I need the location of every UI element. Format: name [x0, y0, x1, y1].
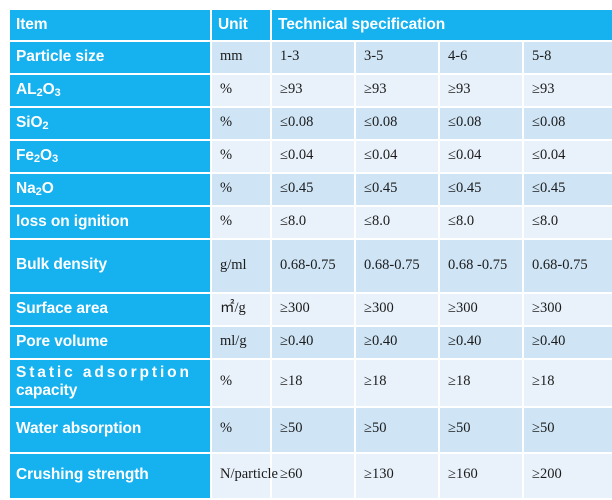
cell-value: ≥50 [440, 408, 522, 452]
row-unit-surface-area: ㎡/g [212, 294, 270, 325]
cell-value: ≥300 [272, 294, 354, 325]
table-row: Na2O % ≤0.45 ≤0.45 ≤0.45 ≤0.45 [10, 174, 612, 205]
column-header-technical-specification: Technical specification [272, 10, 612, 40]
row-label-crushing-strength: Crushing strength [10, 454, 210, 498]
cell-value: 3-5 [356, 42, 438, 73]
column-header-unit: Unit [212, 10, 270, 40]
row-label-particle-size: Particle size [10, 42, 210, 73]
row-unit-loss-on-ignition: % [212, 207, 270, 238]
row-unit-sio2: % [212, 108, 270, 139]
cell-value: ≤0.45 [356, 174, 438, 205]
cell-value: ≤0.45 [272, 174, 354, 205]
table-row: Fe2O3 % ≤0.04 ≤0.04 ≤0.04 ≤0.04 [10, 141, 612, 172]
cell-value: 0.68 -0.75 [440, 240, 522, 292]
cell-value: ≥0.40 [440, 327, 522, 358]
cell-value: ≤0.04 [524, 141, 612, 172]
column-header-item: Item [10, 10, 210, 40]
cell-value: ≥160 [440, 454, 522, 498]
cell-value: ≥130 [356, 454, 438, 498]
row-unit-pore-volume: ml/g [212, 327, 270, 358]
row-unit-na2o: % [212, 174, 270, 205]
row-unit-water-absorption: % [212, 408, 270, 452]
cell-value: ≤0.08 [440, 108, 522, 139]
row-unit-fe2o3: % [212, 141, 270, 172]
technical-specification-sheet: Item Unit Technical specification Partic… [8, 8, 605, 500]
cell-value: ≥18 [440, 360, 522, 406]
row-label-sio2: SiO2 [10, 108, 210, 139]
row-label-static-adsorption-capacity: Static adsorptioncapacity [10, 360, 210, 406]
row-label-pore-volume: Pore volume [10, 327, 210, 358]
row-label-na2o: Na2O [10, 174, 210, 205]
formula-na2o: Na2O [16, 180, 54, 197]
table-row: Surface area ㎡/g ≥300 ≥300 ≥300 ≥300 [10, 294, 612, 325]
specification-table: Item Unit Technical specification Partic… [8, 8, 612, 500]
cell-value: ≥18 [272, 360, 354, 406]
cell-value: ≥93 [356, 75, 438, 106]
cell-value: 0.68-0.75 [272, 240, 354, 292]
cell-value: 0.68-0.75 [524, 240, 612, 292]
cell-value: ≤0.45 [524, 174, 612, 205]
cell-value: ≥50 [272, 408, 354, 452]
cell-value: ≤8.0 [356, 207, 438, 238]
table-row: loss on ignition % ≤8.0 ≤8.0 ≤8.0 ≤8.0 [10, 207, 612, 238]
cell-value: ≤0.45 [440, 174, 522, 205]
cell-value: ≤0.04 [272, 141, 354, 172]
cell-value: ≤8.0 [524, 207, 612, 238]
cell-value: ≤0.08 [524, 108, 612, 139]
cell-value: ≥300 [524, 294, 612, 325]
cell-value: 0.68-0.75 [356, 240, 438, 292]
table-header-row: Item Unit Technical specification [10, 10, 612, 40]
cell-value: ≥0.40 [272, 327, 354, 358]
cell-value: ≤8.0 [440, 207, 522, 238]
cell-value: ≥0.40 [524, 327, 612, 358]
cell-value: ≤0.08 [356, 108, 438, 139]
table-row: AL2O3 % ≥93 ≥93 ≥93 ≥93 [10, 75, 612, 106]
cell-value: 4-6 [440, 42, 522, 73]
cell-value: ≥0.40 [356, 327, 438, 358]
row-label-surface-area: Surface area [10, 294, 210, 325]
row-unit-al2o3: % [212, 75, 270, 106]
formula-sio2: SiO2 [16, 114, 49, 131]
cell-value: ≥50 [356, 408, 438, 452]
table-row: Water absorption % ≥50 ≥50 ≥50 ≥50 [10, 408, 612, 452]
cell-value: ≥50 [524, 408, 612, 452]
row-label-water-absorption: Water absorption [10, 408, 210, 452]
table-row: Particle size mm 1-3 3-5 4-6 5-8 [10, 42, 612, 73]
table-row: Static adsorptioncapacity % ≥18 ≥18 ≥18 … [10, 360, 612, 406]
cell-value: ≤0.04 [356, 141, 438, 172]
cell-value: ≤8.0 [272, 207, 354, 238]
row-unit-static-adsorption-capacity: % [212, 360, 270, 406]
formula-al2o3: AL2O3 [16, 81, 61, 98]
row-label-bulk-density: Bulk density [10, 240, 210, 292]
table-row: Bulk density g/ml 0.68-0.75 0.68-0.75 0.… [10, 240, 612, 292]
cell-value: ≥60 [272, 454, 354, 498]
table-row: Pore volume ml/g ≥0.40 ≥0.40 ≥0.40 ≥0.40 [10, 327, 612, 358]
row-unit-crushing-strength: N/particle [212, 454, 270, 498]
cell-value: ≥93 [272, 75, 354, 106]
cell-value: ≥18 [356, 360, 438, 406]
row-unit-bulk-density: g/ml [212, 240, 270, 292]
cell-value: ≤0.04 [440, 141, 522, 172]
table-row: SiO2 % ≤0.08 ≤0.08 ≤0.08 ≤0.08 [10, 108, 612, 139]
table-row: Crushing strength N/particle ≥60 ≥130 ≥1… [10, 454, 612, 498]
cell-value: 1-3 [272, 42, 354, 73]
cell-value: ≥93 [440, 75, 522, 106]
cell-value: ≥200 [524, 454, 612, 498]
cell-value: 5-8 [524, 42, 612, 73]
row-label-al2o3: AL2O3 [10, 75, 210, 106]
row-label-fe2o3: Fe2O3 [10, 141, 210, 172]
cell-value: ≥93 [524, 75, 612, 106]
formula-fe2o3: Fe2O3 [16, 147, 58, 164]
cell-value: ≥300 [440, 294, 522, 325]
cell-value: ≤0.08 [272, 108, 354, 139]
cell-value: ≥300 [356, 294, 438, 325]
cell-value: ≥18 [524, 360, 612, 406]
row-label-loss-on-ignition: loss on ignition [10, 207, 210, 238]
static-adsorption-label: Static adsorptioncapacity [16, 364, 204, 401]
row-unit-particle-size: mm [212, 42, 270, 73]
